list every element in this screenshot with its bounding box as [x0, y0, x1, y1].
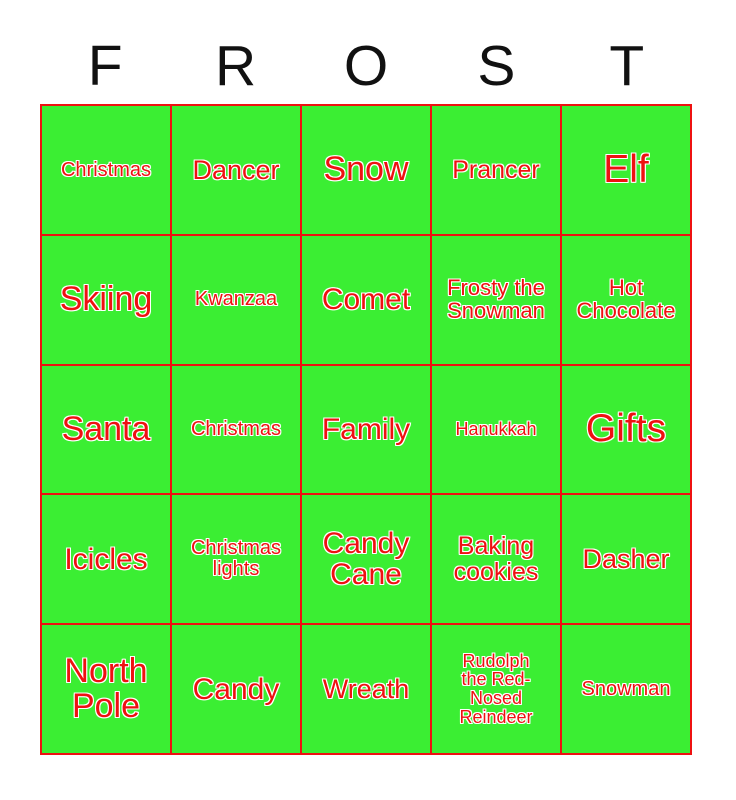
bingo-cell-r1c3[interactable]: Snow: [302, 106, 430, 234]
bingo-cell-r1c2[interactable]: Dancer: [172, 106, 300, 234]
bingo-cell-label: Christmas lights: [175, 538, 297, 580]
bingo-cell-r3c1[interactable]: Santa: [42, 366, 170, 494]
bingo-cell-label: North Pole: [45, 654, 167, 725]
bingo-cell-label: Dancer: [175, 156, 297, 184]
bingo-cell-label: Gifts: [565, 409, 687, 450]
bingo-cell-r2c3[interactable]: Comet: [302, 236, 430, 364]
bingo-cell-label: Comet: [305, 284, 427, 315]
bingo-cell-label: Santa: [45, 412, 167, 447]
bingo-cell-r1c5[interactable]: Elf: [562, 106, 690, 234]
bingo-cell-label: Christmas: [45, 160, 167, 181]
bingo-cell-r3c4[interactable]: Hanukkah: [432, 366, 560, 494]
bingo-cell-label: Snowman: [565, 679, 687, 700]
bingo-header-letters: F R O S T: [40, 30, 692, 102]
bingo-cell-r2c2[interactable]: Kwanzaa: [172, 236, 300, 364]
bingo-cell-label: Rudolph the Red- Nosed Reindeer: [435, 652, 557, 727]
bingo-cell-r4c3[interactable]: Candy Cane: [302, 495, 430, 623]
bingo-cell-label: Skiing: [45, 282, 167, 317]
bingo-cell-label: Icicles: [45, 544, 167, 575]
header-letter-4: S: [431, 38, 561, 95]
bingo-grid: ChristmasDancerSnowPrancerElfSkiingKwanz…: [40, 104, 692, 755]
bingo-cell-r4c5[interactable]: Dasher: [562, 495, 690, 623]
bingo-cell-r5c4[interactable]: Rudolph the Red- Nosed Reindeer: [432, 625, 560, 753]
bingo-cell-r2c4[interactable]: Frosty the Snowman: [432, 236, 560, 364]
bingo-cell-r4c1[interactable]: Icicles: [42, 495, 170, 623]
bingo-cell-r2c1[interactable]: Skiing: [42, 236, 170, 364]
header-letter-1: F: [40, 38, 170, 95]
bingo-cell-label: Candy Cane: [305, 528, 427, 590]
bingo-cell-r5c5[interactable]: Snowman: [562, 625, 690, 753]
bingo-cell-label: Dasher: [565, 545, 687, 573]
bingo-cell-label: Wreath: [305, 675, 427, 703]
bingo-cell-label: Snow: [305, 152, 427, 187]
bingo-cell-label: Prancer: [435, 157, 557, 183]
header-letter-3: O: [301, 38, 431, 95]
bingo-cell-label: Candy: [175, 674, 297, 705]
bingo-cell-r4c4[interactable]: Baking cookies: [432, 495, 560, 623]
bingo-cell-label: Christmas: [175, 419, 297, 440]
bingo-cell-r5c3[interactable]: Wreath: [302, 625, 430, 753]
bingo-cell-r3c2[interactable]: Christmas: [172, 366, 300, 494]
bingo-cell-label: Kwanzaa: [175, 289, 297, 310]
bingo-cell-label: Frosty the Snowman: [435, 277, 557, 323]
header-letter-2: R: [170, 38, 300, 95]
bingo-cell-r5c1[interactable]: North Pole: [42, 625, 170, 753]
bingo-cell-label: Hanukkah: [435, 420, 557, 439]
bingo-cell-r3c5[interactable]: Gifts: [562, 366, 690, 494]
header-letter-5: T: [562, 38, 692, 95]
bingo-cell-r4c2[interactable]: Christmas lights: [172, 495, 300, 623]
bingo-cell-label: Elf: [565, 150, 687, 191]
bingo-cell-r3c3[interactable]: Family: [302, 366, 430, 494]
bingo-card: F R O S T ChristmasDancerSnowPrancerElfS…: [0, 0, 736, 800]
bingo-cell-r5c2[interactable]: Candy: [172, 625, 300, 753]
bingo-cell-label: Hot Chocolate: [565, 277, 687, 323]
bingo-cell-r1c4[interactable]: Prancer: [432, 106, 560, 234]
bingo-cell-label: Family: [305, 414, 427, 445]
bingo-cell-label: Baking cookies: [435, 533, 557, 585]
bingo-cell-r2c5[interactable]: Hot Chocolate: [562, 236, 690, 364]
bingo-cell-r1c1[interactable]: Christmas: [42, 106, 170, 234]
